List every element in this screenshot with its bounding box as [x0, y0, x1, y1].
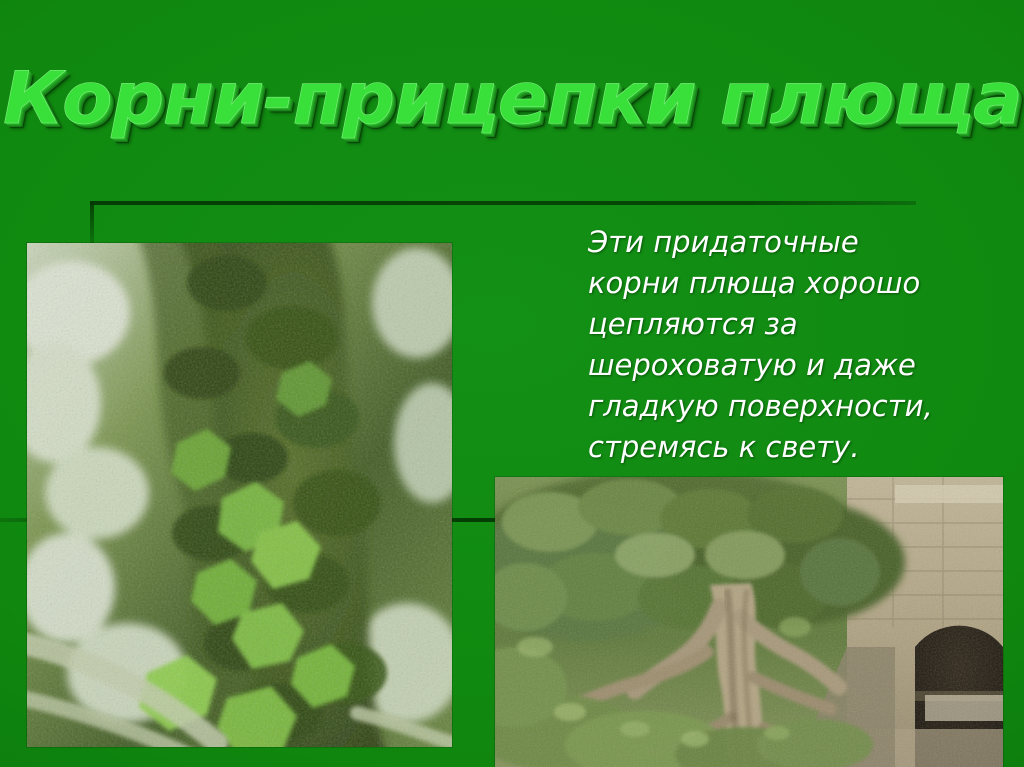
divider-line-top [90, 201, 916, 205]
photo-ivy-tree-graphic [495, 477, 1003, 767]
divider-line-left-vertical [90, 201, 94, 245]
slide-title-text: Корни-прицепки плюща [3, 62, 1022, 134]
photo-ivy-roots-graphic [27, 243, 452, 747]
photo-ivy-tree-stone-wall [495, 477, 1003, 767]
photo-ivy-roots-on-trunk [27, 243, 452, 747]
slide: Корни-прицепки плюща Эти придаточные кор… [0, 0, 1024, 767]
slide-title: Корни-прицепки плюща [0, 48, 1024, 148]
body-paragraph: Эти придаточные корни плюща хорошо цепля… [588, 222, 980, 468]
